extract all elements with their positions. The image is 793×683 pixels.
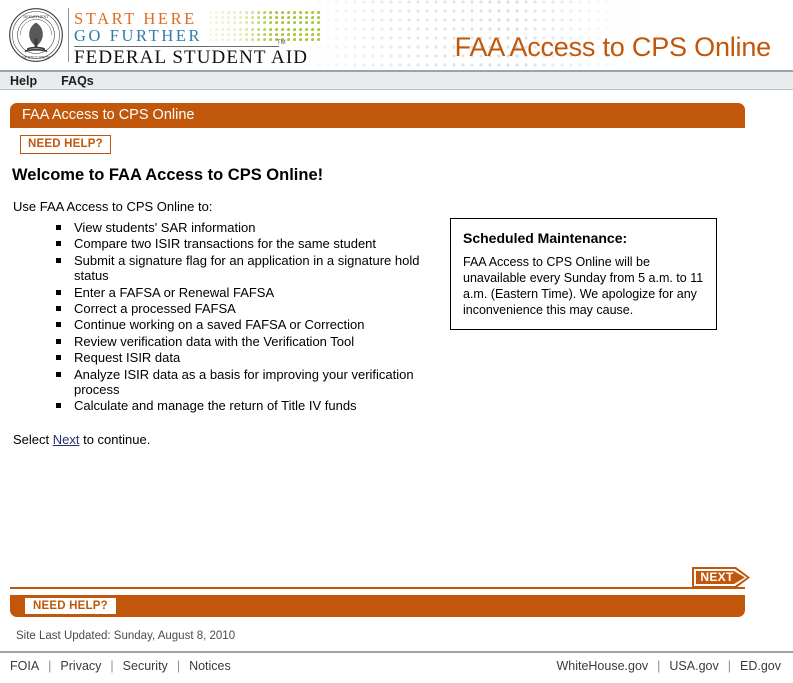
need-help-button-bottom[interactable]: NEED HELP? [25, 598, 116, 614]
svg-text:DEPARTMENT: DEPARTMENT [23, 15, 49, 19]
department-of-education-seal-icon: DEPARTMENT OF EDUCATION [8, 7, 64, 63]
footer-link-usagov[interactable]: USA.gov [669, 659, 718, 673]
list-item: Compare two ISIR transactions for the sa… [56, 236, 420, 251]
intro-text: Use FAA Access to CPS Online to: [13, 199, 793, 214]
list-item: Enter a FAFSA or Renewal FAFSA [56, 285, 420, 300]
svg-text:OF EDUCATION: OF EDUCATION [22, 56, 50, 60]
brand-go-further-text: GO FURTHER [74, 26, 202, 45]
brand-dots-decoration-top [209, 11, 321, 26]
content-row: Use FAA Access to CPS Online to: View st… [0, 199, 793, 414]
next-link[interactable]: Next [53, 432, 80, 447]
brand-dots-decoration-bottom [209, 28, 321, 43]
footer-link-privacy[interactable]: Privacy [60, 659, 101, 673]
page-title-bar: FAA Access to CPS Online [10, 103, 745, 128]
select-next-suffix: to continue. [79, 432, 150, 447]
application-title: FAA Access to CPS Online [455, 32, 771, 63]
list-item: Review verification data with the Verifi… [56, 334, 420, 349]
list-item: Continue working on a saved FAFSA or Cor… [56, 317, 420, 332]
feature-bullet-list: View students' SAR information Compare t… [0, 220, 420, 414]
footer-link-whitehouse[interactable]: WhiteHouse.gov [556, 659, 648, 673]
footer-divider [0, 651, 793, 653]
need-help-button-top[interactable]: NEED HELP? [20, 135, 111, 154]
select-next-prefix: Select [13, 432, 53, 447]
federal-student-aid-logo: START HERE GO FURTHER FEDERAL STUDENT AI… [74, 10, 289, 69]
main-menu-bar: Help FAQs [0, 70, 793, 90]
footer-left-links: FOIA|Privacy|Security|Notices [10, 659, 231, 673]
bottom-help-bar: NEED HELP? [10, 595, 745, 617]
next-button-label: NEXT [698, 570, 736, 585]
page-content: FAA Access to CPS Online NEED HELP? Welc… [0, 103, 793, 447]
maintenance-title: Scheduled Maintenance: [463, 230, 705, 246]
site-footer: FOIA|Privacy|Security|Notices WhiteHouse… [0, 659, 793, 683]
menu-item-faqs[interactable]: FAQs [59, 72, 104, 90]
footer-link-security[interactable]: Security [123, 659, 168, 673]
footer-separator: | [719, 659, 740, 673]
footer-link-foia[interactable]: FOIA [10, 659, 39, 673]
maintenance-body: FAA Access to CPS Online will be unavail… [463, 254, 705, 318]
list-item: Calculate and manage the return of Title… [56, 398, 420, 413]
list-item: Correct a processed FAFSA [56, 301, 420, 316]
welcome-heading: Welcome to FAA Access to CPS Online! [12, 166, 793, 185]
footer-separator: | [101, 659, 122, 673]
footer-separator: | [648, 659, 669, 673]
site-last-updated-text: Site Last Updated: Sunday, August 8, 201… [16, 630, 235, 642]
brand-federal-student-aid-text: FEDERAL STUDENT AID [74, 47, 289, 69]
footer-separator: | [39, 659, 60, 673]
brand-line-start-here: START HERE [74, 10, 289, 27]
next-button[interactable]: NEXT [692, 567, 750, 588]
menu-item-help[interactable]: Help [8, 72, 47, 90]
footer-link-edgov[interactable]: ED.gov [740, 659, 781, 673]
list-item: Submit a signature flag for an applicati… [56, 253, 420, 284]
select-next-instruction: Select Next to continue. [13, 432, 793, 447]
trademark-mark: TM [277, 40, 286, 46]
footer-link-notices[interactable]: Notices [189, 659, 231, 673]
brand-divider [68, 8, 69, 62]
scheduled-maintenance-box: Scheduled Maintenance: FAA Access to CPS… [450, 218, 717, 330]
list-item: Request ISIR data [56, 350, 420, 365]
list-item: View students' SAR information [56, 220, 420, 235]
footer-separator: | [168, 659, 189, 673]
site-header: DEPARTMENT OF EDUCATION START HERE GO FU… [0, 0, 793, 70]
footer-right-links: WhiteHouse.gov|USA.gov|ED.gov [556, 659, 781, 673]
brand-line-go-further: GO FURTHER [74, 27, 289, 44]
list-item: Analyze ISIR data as a basis for improvi… [56, 367, 420, 398]
